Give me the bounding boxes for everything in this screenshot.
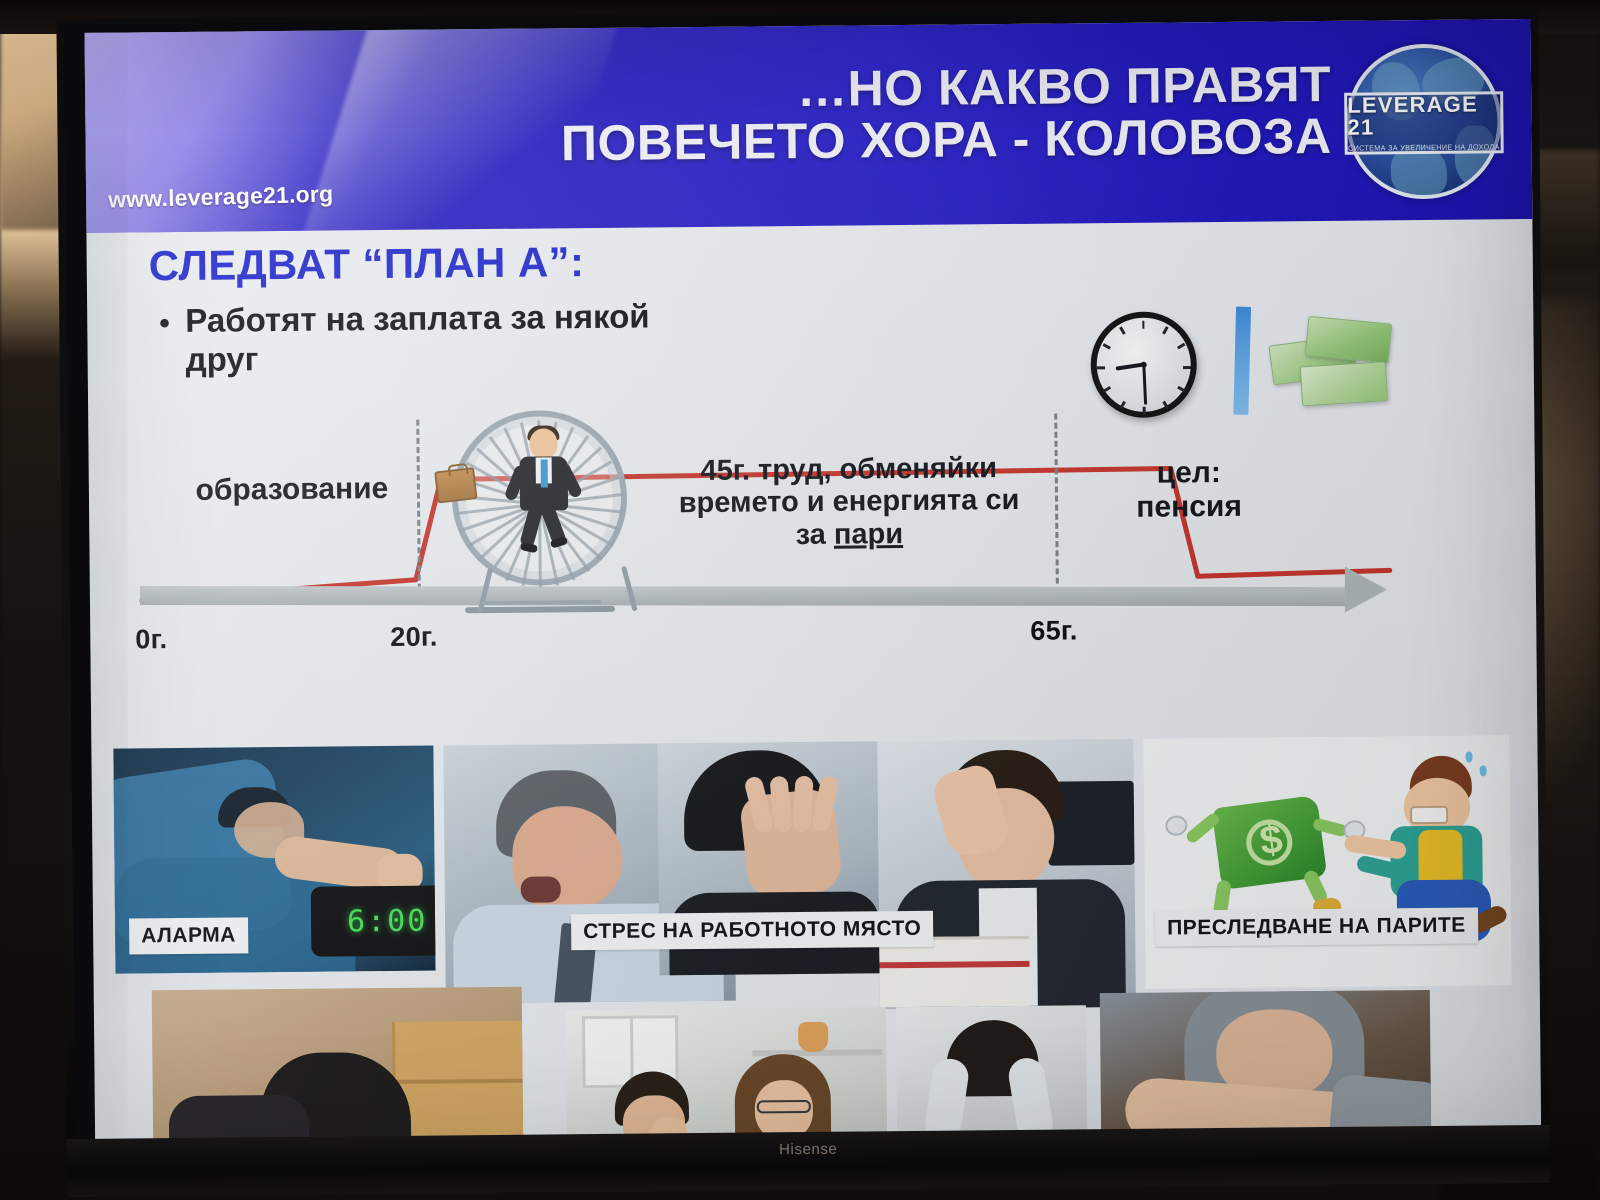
hamster-wheel-icon [443,410,645,612]
bullet-label: Работят на заплата за някой друг [185,297,680,380]
work-line-3-emphasis: пари [834,518,903,551]
caption-alarm: АЛАРМА [129,917,248,954]
axis-tick-20: 20г. [390,622,438,653]
logo-subtitle: СИСТЕМА ЗА УВЕЛИЧЕНИЕ НА ДОХОДА [1348,142,1500,152]
photo-stress-overload[interactable] [877,739,1136,1009]
television: …НО КАКВО ПРАВЯТ ПОВЕЧЕТО ХОРА - КОЛОВОЗ… [56,5,1549,1197]
slide-header: …НО КАКВО ПРАВЯТ ПОВЕЧЕТО ХОРА - КОЛОВОЗ… [85,19,1533,233]
banknotes-icon [1270,313,1391,418]
tv-brand-label: Hisense [779,1141,838,1159]
wall-clock-icon [1090,311,1197,418]
logo-plate: LEVERAGE 21 СИСТЕМА ЗА УВЕЛИЧЕНИЕ НА ДОХ… [1344,91,1504,155]
phase-label-work: 45г. труд, обменяйки времето и енергията… [654,452,1045,553]
bullet-marker: • [159,306,170,341]
alarm-clock-display: 6:00 [347,904,428,940]
page-title: …НО КАКВО ПРАВЯТ ПОВЕЧЕТО ХОРА - КОЛОВОЗ… [471,59,1332,170]
display-panel: …НО КАКВО ПРАВЯТ ПОВЕЧЕТО ХОРА - КОЛОВОЗ… [64,11,1541,1143]
divider-slash-icon [1233,307,1251,415]
leverage21-logo: LEVERAGE 21 СИСТЕМА ЗА УВЕЛИЧЕНИЕ НА ДОХ… [1346,43,1502,199]
axis-tick-65: 65г. [1030,615,1078,646]
caption-money-chase: ПРЕСЛЕДВАНЕ НА ПАРИТЕ [1155,908,1478,947]
section-heading: СЛЕДВАТ “ПЛАН А”: [149,238,585,290]
presentation-slide: …НО КАКВО ПРАВЯТ ПОВЕЧЕТО ХОРА - КОЛОВОЗ… [85,19,1542,1163]
time-axis [140,586,1355,606]
title-line-2: ПОВЕЧЕТО ХОРА - КОЛОВОЗА [471,110,1331,170]
photo-grid: 6:00 АЛАРМА [91,727,1541,1163]
work-line-1: 45г. труд, обменяйки [700,452,997,487]
axis-tick-0: 0г. [135,624,167,655]
logo-wordmark: LEVERAGE 21 [1347,93,1500,138]
life-timeline-chart: образование 45г. труд, обменяйки времето… [88,419,1537,733]
caption-work-stress: СТРЕС НА РАБОТНОТО МЯСТО [571,911,933,950]
photo-money-chase[interactable]: $ [1143,735,1511,989]
clock-center-pin [1141,362,1147,368]
phase-label-pension: цел: пенсия [1109,456,1270,525]
logo-divider [1355,140,1493,141]
slide-body: СЛЕДВАТ “ПЛАН А”: • Работят на заплата з… [86,219,1541,1163]
axis-arrowhead-icon [1345,567,1387,613]
clock-minute-hand [1142,365,1146,405]
work-line-2: времето и енергията си [679,484,1020,519]
work-line-3-prefix: за [796,519,835,551]
bullet-item: • Работят на заплата за някой друг [159,297,680,380]
phase-label-education: образование [177,472,407,508]
businessman-icon [505,428,586,554]
briefcase-icon [434,467,477,503]
wheel-stand [461,560,621,614]
running-dollar-icon: $ [1211,795,1327,890]
